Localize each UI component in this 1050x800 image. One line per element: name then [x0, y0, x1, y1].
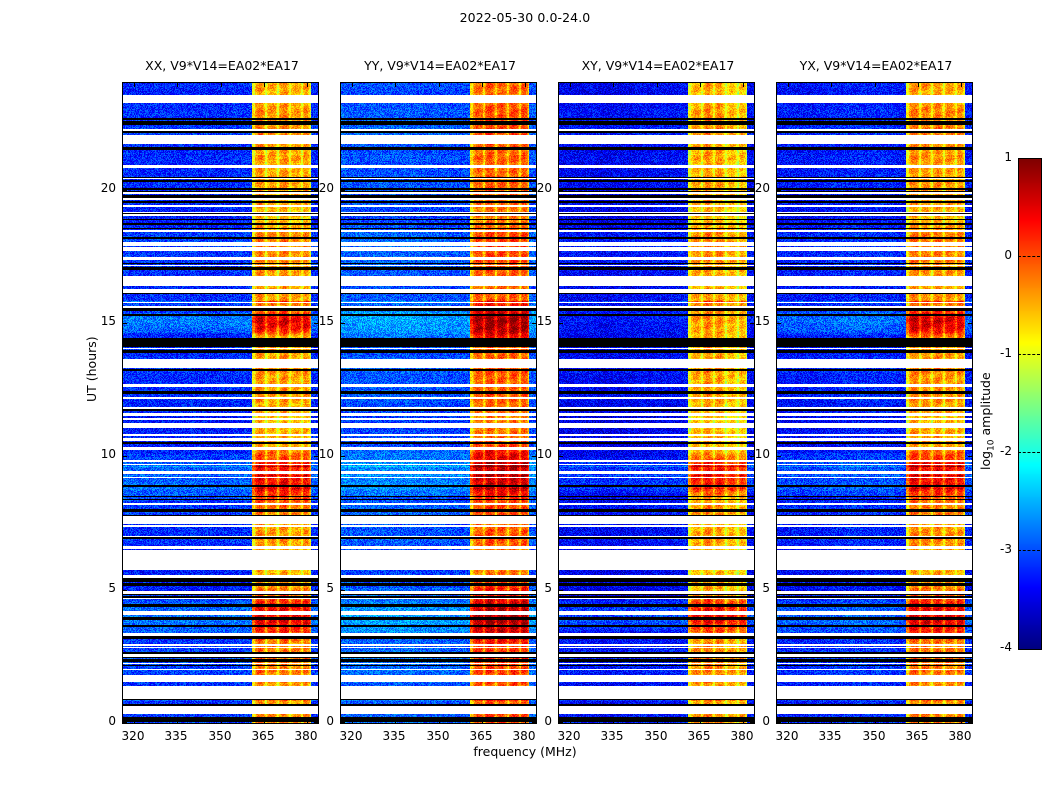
heatmap-yx — [777, 83, 972, 723]
y-axis-tick-label: 20 — [740, 181, 770, 195]
y-axis-tick-label: 10 — [304, 447, 334, 461]
y-axis-tick-label: 15 — [304, 314, 334, 328]
y-axis-tick-label: 5 — [304, 581, 334, 595]
x-axis-tick — [570, 83, 571, 87]
colorbar-tick-label: -2 — [986, 444, 1012, 458]
y-axis-tick-label: 0 — [86, 714, 116, 728]
y-axis-tick-label: 10 — [522, 447, 552, 461]
heatmap-xx — [123, 83, 318, 723]
x-axis-tick — [831, 719, 832, 723]
x-axis-tick-label: 365 — [897, 729, 937, 743]
y-axis-tick-label: 5 — [522, 581, 552, 595]
x-axis-tick-label: 320 — [549, 729, 589, 743]
x-axis-tick-label: 365 — [243, 729, 283, 743]
panel-xx[interactable] — [122, 82, 319, 724]
x-axis-tick — [395, 719, 396, 723]
y-axis-tick — [341, 456, 345, 457]
x-axis-tick — [875, 83, 876, 87]
colorbar-tick-label: 1 — [986, 150, 1012, 164]
colorbar-tick-label: -4 — [986, 640, 1012, 654]
x-axis-tick — [177, 719, 178, 723]
y-axis-tick-label: 15 — [740, 314, 770, 328]
y-axis-tick — [777, 190, 781, 191]
x-axis-tick — [221, 83, 222, 87]
y-axis-tick-label: 10 — [740, 447, 770, 461]
y-axis-tick-label: 10 — [86, 447, 116, 461]
y-axis-tick — [341, 590, 345, 591]
x-axis-tick — [831, 83, 832, 87]
figure-title: 2022-05-30 0.0-24.0 — [0, 10, 1050, 25]
y-axis-tick — [968, 722, 972, 723]
x-axis-tick-label: 335 — [810, 729, 850, 743]
colorbar-tick-label: -1 — [986, 346, 1012, 360]
y-axis-tick-label: 15 — [522, 314, 552, 328]
y-axis-tick — [777, 590, 781, 591]
x-axis-tick-label: 320 — [113, 729, 153, 743]
x-axis-tick — [352, 719, 353, 723]
x-axis-tick-label: 365 — [461, 729, 501, 743]
x-axis-tick — [961, 83, 962, 87]
colorbar-tick-label: -3 — [986, 542, 1012, 556]
x-axis-tick — [264, 719, 265, 723]
x-axis-tick — [352, 83, 353, 87]
x-axis-tick — [875, 719, 876, 723]
y-axis-tick — [559, 456, 563, 457]
y-axis-tick — [559, 590, 563, 591]
colorbar-label-suffix: amplitude — [978, 372, 993, 439]
x-axis-tick-label: 365 — [679, 729, 719, 743]
y-axis-tick — [123, 190, 127, 191]
y-axis-tick-label: 15 — [86, 314, 116, 328]
x-axis-tick — [134, 719, 135, 723]
y-axis-tick — [968, 456, 972, 457]
colorbar-gradient — [1019, 159, 1041, 649]
x-axis-tick-label: 380 — [940, 729, 980, 743]
x-axis-tick — [264, 83, 265, 87]
y-axis-tick-label: 20 — [304, 181, 334, 195]
x-axis-tick-label: 335 — [592, 729, 632, 743]
y-axis-tick-label: 5 — [740, 581, 770, 595]
x-axis-tick-label: 335 — [156, 729, 196, 743]
y-axis-tick — [341, 722, 345, 723]
x-axis-tick — [918, 83, 919, 87]
y-axis-tick-label: 5 — [86, 581, 116, 595]
x-axis-tick-label: 350 — [200, 729, 240, 743]
x-axis-tick — [657, 719, 658, 723]
y-axis-tick — [123, 323, 127, 324]
x-axis-tick — [700, 83, 701, 87]
y-axis-tick — [968, 190, 972, 191]
y-axis-tick — [123, 456, 127, 457]
y-axis-label: UT (hours) — [84, 336, 99, 402]
figure-canvas: 2022-05-30 0.0-24.0 XX, V9*V14=EA02*EA17… — [0, 0, 1050, 800]
x-axis-tick — [307, 83, 308, 87]
x-axis-tick-label: 350 — [636, 729, 676, 743]
y-axis-tick — [968, 590, 972, 591]
x-axis-tick-label: 380 — [504, 729, 544, 743]
x-axis-tick — [788, 719, 789, 723]
x-axis-tick — [395, 83, 396, 87]
y-axis-tick-label: 0 — [522, 714, 552, 728]
x-axis-tick — [788, 83, 789, 87]
colorbar-tick-label: 0 — [986, 248, 1012, 262]
x-axis-tick-label: 350 — [418, 729, 458, 743]
x-axis-tick — [918, 719, 919, 723]
y-axis-tick-label: 20 — [522, 181, 552, 195]
y-axis-tick-label: 20 — [86, 181, 116, 195]
x-axis-tick-label: 380 — [722, 729, 762, 743]
x-axis-tick-label: 380 — [286, 729, 326, 743]
y-axis-tick — [777, 323, 781, 324]
panel-xy[interactable] — [558, 82, 755, 724]
x-axis-tick-label: 350 — [854, 729, 894, 743]
x-axis-tick-label: 335 — [374, 729, 414, 743]
x-axis-tick — [482, 83, 483, 87]
y-axis-tick — [341, 190, 345, 191]
y-axis-tick-label: 0 — [740, 714, 770, 728]
x-axis-tick — [439, 83, 440, 87]
y-axis-tick — [559, 323, 563, 324]
x-axis-tick — [613, 719, 614, 723]
colorbar[interactable] — [1018, 158, 1042, 650]
panel-yx[interactable] — [776, 82, 973, 724]
y-axis-tick — [968, 323, 972, 324]
x-axis-tick — [482, 719, 483, 723]
panel-yy[interactable] — [340, 82, 537, 724]
y-axis-tick — [559, 722, 563, 723]
x-axis-tick — [221, 719, 222, 723]
y-axis-tick — [777, 722, 781, 723]
x-axis-tick — [134, 83, 135, 87]
y-axis-tick — [559, 190, 563, 191]
x-axis-tick — [525, 83, 526, 87]
panel-title-yx: YX, V9*V14=EA02*EA17 — [746, 58, 1006, 73]
x-axis-tick — [177, 83, 178, 87]
x-axis-tick — [743, 83, 744, 87]
x-axis-tick — [700, 719, 701, 723]
x-axis-tick-label: 320 — [331, 729, 371, 743]
heatmap-xy — [559, 83, 754, 723]
x-axis-tick — [961, 719, 962, 723]
x-axis-tick — [439, 719, 440, 723]
x-axis-tick — [570, 719, 571, 723]
y-axis-tick-label: 0 — [304, 714, 334, 728]
y-axis-tick — [123, 722, 127, 723]
y-axis-tick — [123, 590, 127, 591]
x-axis-tick-label: 320 — [767, 729, 807, 743]
y-axis-tick — [777, 456, 781, 457]
heatmap-yy — [341, 83, 536, 723]
x-axis-tick — [657, 83, 658, 87]
x-axis-label: frequency (MHz) — [0, 744, 1050, 759]
y-axis-tick — [341, 323, 345, 324]
x-axis-tick — [613, 83, 614, 87]
